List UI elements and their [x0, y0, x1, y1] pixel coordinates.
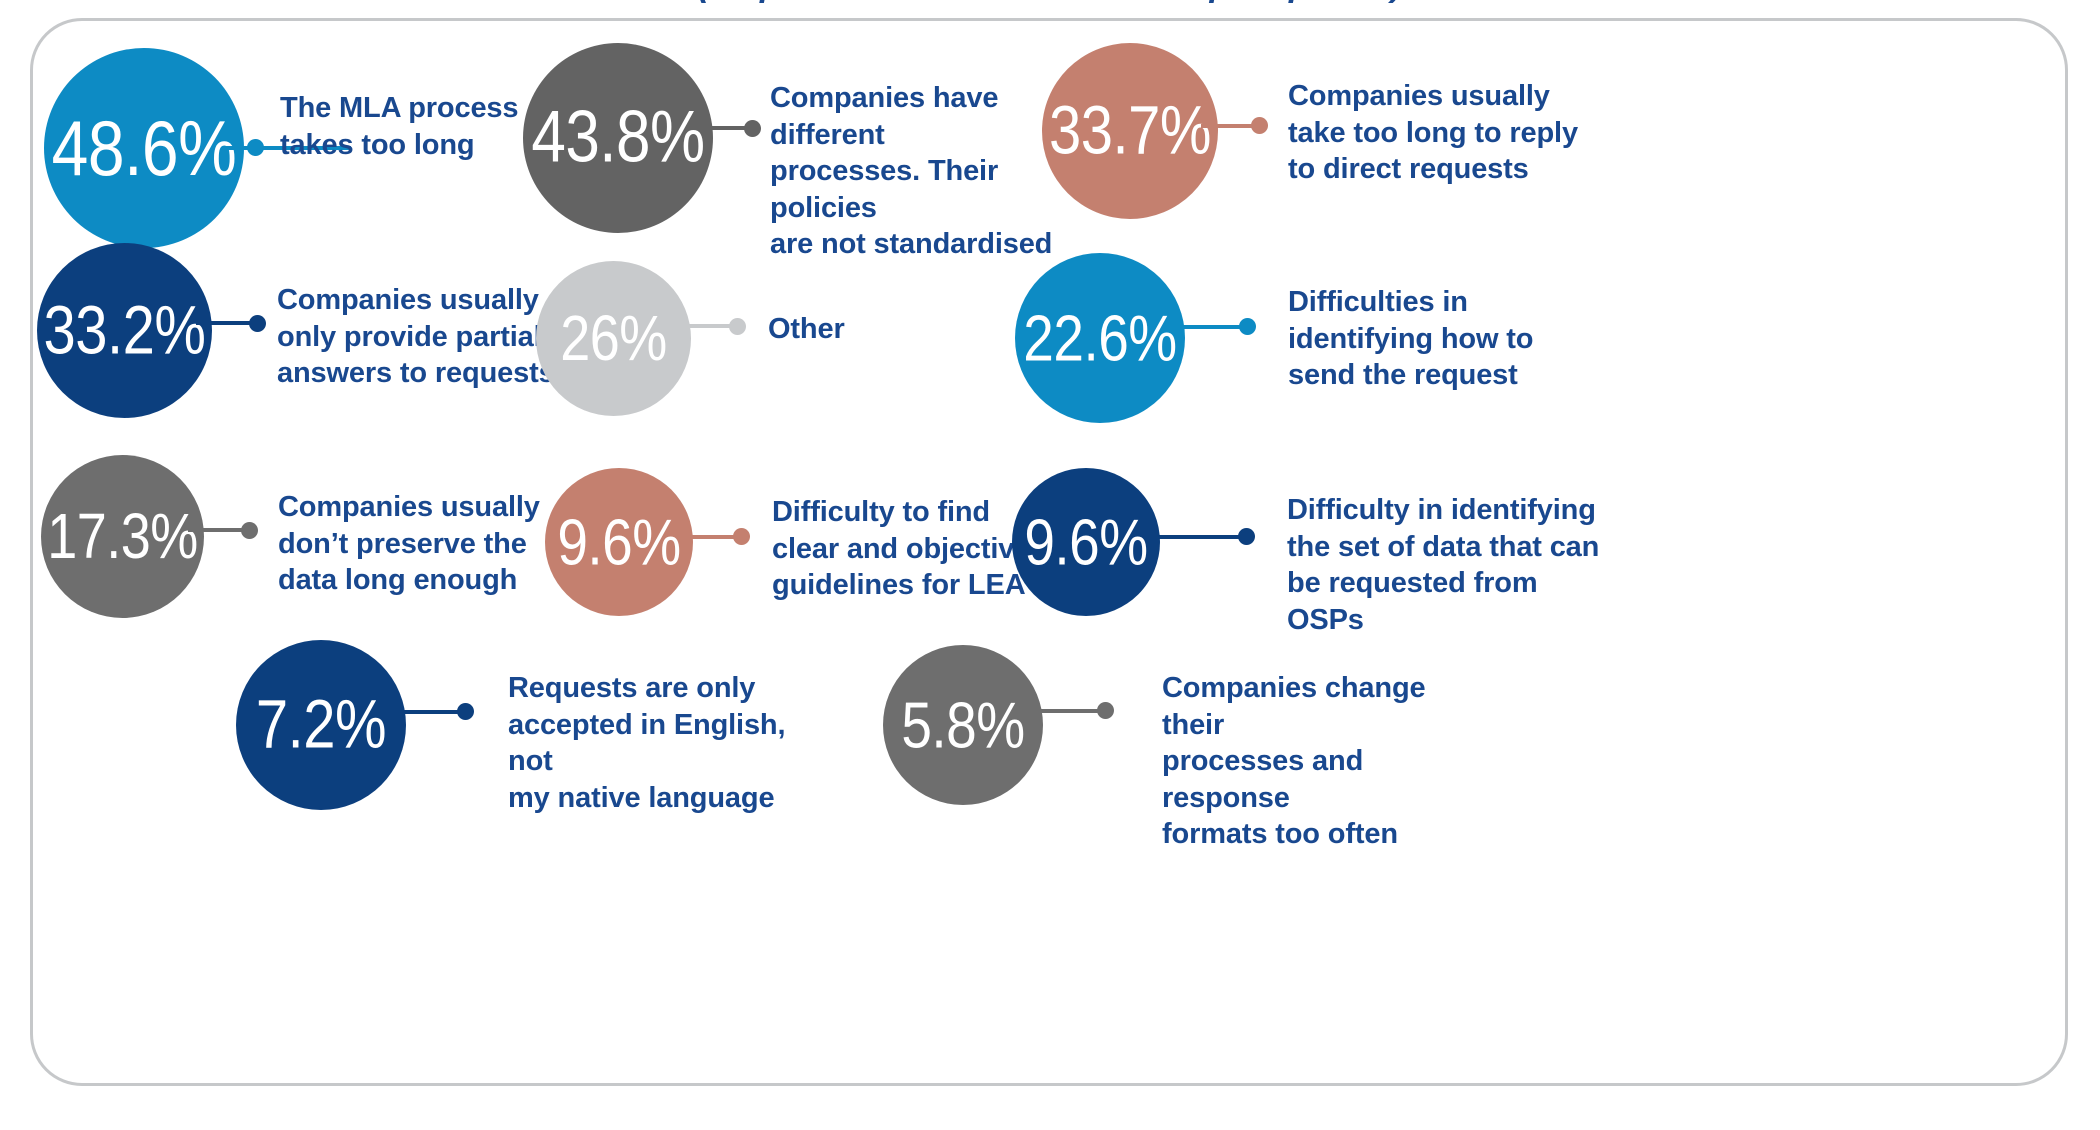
connector-knob — [249, 315, 266, 332]
bubble-label: Companies usually don’t preserve the dat… — [278, 489, 578, 599]
bubble-label: Requests are only accepted in English, n… — [508, 670, 818, 816]
bubble-value: 33.2% — [44, 296, 206, 364]
connector-knob — [247, 139, 264, 156]
bubble-value: 7.2% — [256, 691, 386, 759]
connector-knob — [1238, 528, 1255, 545]
bubble-circle: 17.3% — [41, 455, 204, 618]
bubble-circle: 26% — [536, 261, 691, 416]
connector-knob — [241, 522, 258, 539]
bubble-label: Companies usually only provide partial a… — [277, 282, 577, 392]
connector-knob — [1239, 318, 1256, 335]
bubble-value: 5.8% — [901, 693, 1024, 758]
bubble-value: 26% — [560, 307, 667, 371]
bubble-circle: 43.8% — [523, 43, 713, 233]
bubble-value: 33.7% — [1049, 97, 1211, 165]
bubble-value: 43.8% — [531, 101, 704, 174]
connector-knob — [1097, 702, 1114, 719]
connector-line — [680, 535, 740, 539]
bubble-circle: 5.8% — [883, 645, 1043, 805]
bubble-value: 9.6% — [557, 510, 680, 575]
connector-line — [1147, 535, 1239, 539]
bubble-circle: 33.2% — [37, 243, 212, 418]
bubble-value: 9.6% — [1024, 510, 1147, 575]
bubble-value: 17.3% — [47, 505, 198, 569]
bubble-label: Difficulty in identifying the set of dat… — [1287, 492, 1617, 638]
connector-knob — [729, 318, 746, 335]
bubble-value: 22.6% — [1023, 306, 1176, 371]
bubble-label: Companies have different processes. Thei… — [770, 80, 1060, 263]
bubble-circle: 7.2% — [236, 640, 406, 810]
connector-line — [1170, 325, 1245, 329]
bubble-value: 48.6% — [52, 109, 237, 187]
bubble-label: Companies usually take too long to reply… — [1288, 78, 1608, 188]
connector-knob — [744, 120, 761, 137]
bubble-label: Companies change their processes and res… — [1162, 670, 1492, 853]
bubble-chart: 48.6% The MLA process takes too long 43.… — [0, 0, 2100, 1130]
bubble-circle: 22.6% — [1015, 253, 1185, 423]
bubble-circle: 9.6% — [1012, 468, 1160, 616]
connector-knob — [733, 528, 750, 545]
connector-line — [1030, 709, 1102, 713]
bubble-circle: 33.7% — [1042, 43, 1218, 219]
bubble-label: Difficulties in identifying how to send … — [1288, 284, 1588, 394]
connector-knob — [1251, 117, 1268, 134]
bubble-circle: 48.6% — [44, 48, 244, 248]
bubble-circle: 9.6% — [545, 468, 693, 616]
connector-knob — [457, 703, 474, 720]
